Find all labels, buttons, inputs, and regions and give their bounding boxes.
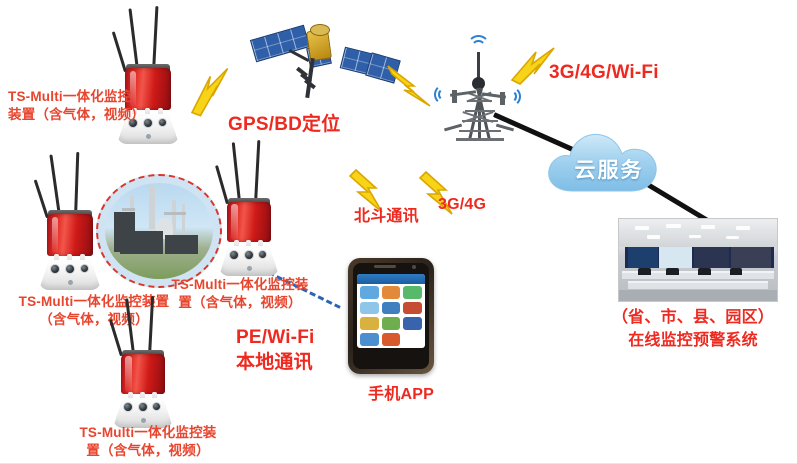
app-icon[interactable] (360, 286, 379, 299)
beidou-link-label: 北斗通讯 (354, 206, 419, 228)
control-room-photo (618, 218, 778, 302)
app-icon[interactable] (382, 317, 401, 330)
device-label-bottom: TS-Multi一体化监控装 置（含气体，视频） (64, 424, 232, 460)
signal-wave-right2-icon (500, 86, 521, 107)
local-link-label: PE/Wi-Fi 本地通讯 (236, 326, 314, 375)
tablet-screen[interactable] (357, 274, 425, 348)
ceiling (619, 219, 777, 247)
refinery-photo (96, 174, 222, 288)
app-header-bar (357, 274, 425, 284)
app-icon[interactable] (403, 286, 422, 299)
tablet-speaker (374, 265, 396, 268)
app-icon-grid[interactable] (360, 286, 423, 346)
bolt-device-to-satellite-icon (182, 66, 248, 118)
satellite-icon (250, 14, 398, 110)
cloud-service-icon[interactable]: 云服务 (543, 125, 675, 197)
device-label-top-left: TS-Multi一体化监控 装置（含气体，视频） (8, 88, 148, 124)
app-icon[interactable] (382, 333, 401, 346)
monitoring-device-bottom[interactable] (106, 296, 186, 426)
gps-link-label: GPS/BD定位 (228, 112, 340, 138)
video-wall (625, 247, 774, 268)
cellular-wifi-link-label: 3G/4G/Wi-Fi (549, 60, 659, 86)
cellular-link-label: 3G/4G (438, 194, 486, 216)
app-icon[interactable] (382, 286, 401, 299)
app-icon[interactable] (403, 302, 422, 315)
bolt-satellite-to-tower-icon (382, 60, 444, 112)
monitoring-device-mid-right[interactable] (212, 140, 292, 276)
cloud-label: 云服务 (543, 154, 675, 184)
control-room-label: （省、市、县、园区） 在线监控预警系统 (588, 306, 797, 352)
app-icon[interactable] (360, 333, 379, 346)
app-icon[interactable] (382, 302, 401, 315)
tablet-label: 手机APP (356, 384, 446, 406)
app-icon[interactable] (360, 302, 379, 315)
app-icon[interactable] (360, 317, 379, 330)
tablet-camera-icon (412, 265, 416, 269)
app-icon[interactable] (403, 317, 422, 330)
signal-wave-top2-icon (467, 35, 490, 58)
diagram-canvas: 云服务 (0, 0, 797, 464)
app-icon[interactable] (403, 333, 422, 346)
mobile-app-icon[interactable] (348, 258, 434, 374)
floor (619, 290, 777, 301)
